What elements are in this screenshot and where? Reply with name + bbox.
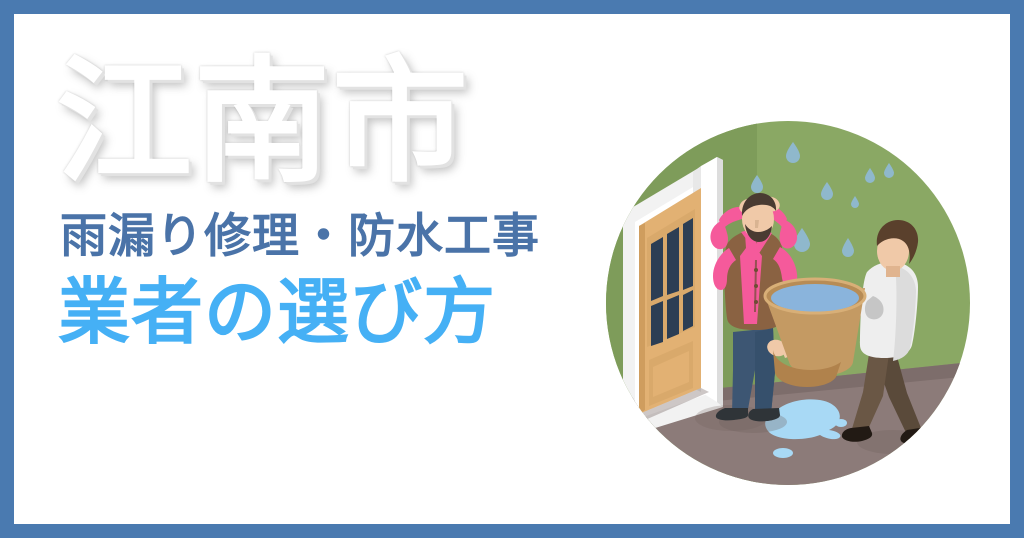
headline-text-block: 江南市 雨漏り修理・防水工事 業者の選び方	[50, 54, 610, 349]
page-title-city: 江南市	[50, 54, 610, 190]
subtitle-service-line: 雨漏り修理・防水工事	[50, 212, 610, 259]
rain-leak-illustration	[605, 120, 971, 486]
subtitle-howto-line: 業者の選び方	[50, 277, 610, 349]
banner-card: 江南市 雨漏り修理・防水工事 業者の選び方	[0, 0, 1024, 538]
banner-inner-panel: 江南市 雨漏り修理・防水工事 業者の選び方	[14, 14, 1010, 524]
